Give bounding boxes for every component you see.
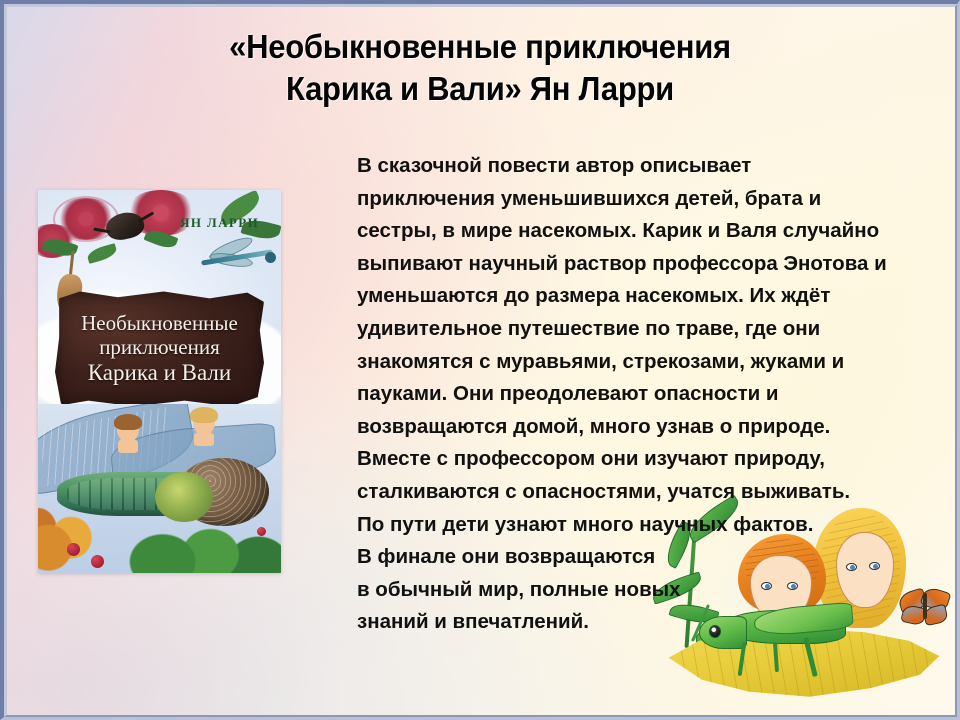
- girl-torso: [118, 439, 138, 453]
- text-line: знакомятся с муравьями, стрекозами, жука…: [357, 346, 917, 379]
- insect-compound-eye: [155, 472, 213, 523]
- text-line: По пути дети узнают много научных фактов…: [357, 509, 917, 542]
- book-title-line-2: приключения: [99, 336, 220, 360]
- book-cover-image: ЯН ЛАРРИ Необыкновенные приключения Кари…: [38, 190, 281, 573]
- text-line: знаний и впечатлений.: [357, 606, 917, 639]
- text-line: уменьшаются до размера насекомых. Их ждё…: [357, 280, 917, 313]
- boy-torso: [194, 432, 214, 446]
- boy-hair: [190, 407, 218, 423]
- text-line: возвращаются домой, много узнав о природ…: [357, 411, 917, 444]
- text-line: пауками. Они преодолевают опасности и: [357, 378, 917, 411]
- dragonfly-icon: [192, 240, 276, 274]
- text-line: приключения уменьшившихся детей, брата и: [357, 183, 917, 216]
- page-title: «Необыкновенные приключения Карика и Вал…: [142, 26, 819, 110]
- girl-figure: [113, 418, 143, 452]
- girl-hair: [114, 414, 142, 430]
- book-cover-scene: [38, 404, 281, 573]
- text-line: сталкиваются с опасностями, учатся выжив…: [357, 476, 917, 509]
- butterfly-body: [923, 593, 927, 619]
- text-line: сестры, в мире насекомых. Карик и Валя с…: [357, 215, 917, 248]
- slide: «Необыкновенные приключения Карика и Вал…: [0, 0, 960, 720]
- description-text: В сказочной повести автор описывает прик…: [357, 150, 917, 639]
- grasshopper-leg: [773, 642, 779, 672]
- book-cover-author: ЯН ЛАРРИ: [180, 215, 259, 231]
- dragonfly-head: [265, 252, 276, 263]
- text-line: Вместе с профессором они изучают природу…: [357, 443, 917, 476]
- book-cover-title-plaque: Необыкновенные приключения Карика и Вали: [55, 291, 264, 406]
- text-line: В финале они возвращаются: [357, 541, 917, 574]
- book-title-line-3: Карика и Вали: [88, 360, 231, 386]
- boy-figure: [189, 411, 219, 445]
- book-title-line-1: Необыкновенные: [81, 312, 238, 336]
- text-line: удивительное путешествие по траве, где о…: [357, 313, 917, 346]
- text-line: В сказочной повести автор описывает: [357, 150, 917, 183]
- text-line: в обычный мир, полные новых: [357, 574, 917, 607]
- text-line: выпивают научный раствор профессора Энот…: [357, 248, 917, 281]
